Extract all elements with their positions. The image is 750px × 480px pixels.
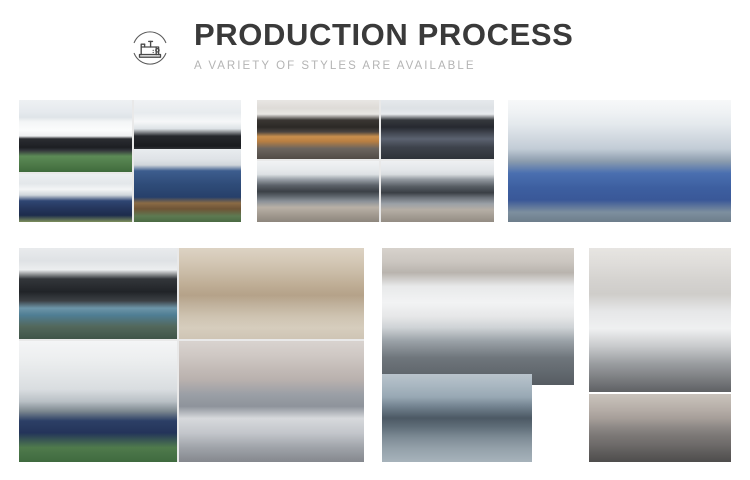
- finishing-collage: [589, 248, 731, 462]
- photo-sewing-line-navy-bundles[interactable]: [19, 174, 132, 222]
- title-block: PRODUCTION PROCESS A VARIETY OF STYLES A…: [194, 18, 573, 73]
- page-subtitle: A VARIETY OF STYLES ARE AVAILABLE: [194, 59, 573, 73]
- photo-hand-finishing-machine[interactable]: [589, 248, 731, 392]
- page-header: PRODUCTION PROCESS A VARIETY OF STYLES A…: [0, 0, 750, 96]
- photo-sewing-floor-red-dress[interactable]: [257, 100, 379, 159]
- packing-warehouse-collage: [19, 248, 364, 462]
- header-inner: PRODUCTION PROCESS A VARIETY OF STYLES A…: [128, 18, 573, 73]
- photo-sewing-hall-colorful-garments[interactable]: [381, 161, 494, 222]
- photo-seamstress-checked-shirt[interactable]: [382, 374, 532, 462]
- photo-ironing-station-blue-table[interactable]: [508, 100, 731, 222]
- sewing-floor-collage: [257, 100, 494, 222]
- production-process-gallery: [19, 100, 731, 462]
- ironing-room-photo: [508, 100, 731, 222]
- photo-sewing-hall-overhead[interactable]: [257, 161, 379, 222]
- photo-inspection-room[interactable]: [19, 341, 177, 462]
- sewing-machine-icon: [128, 26, 172, 70]
- photo-stacked-cut-parts[interactable]: [589, 394, 731, 462]
- photo-cutting-table-worker-yellow[interactable]: [19, 100, 132, 172]
- cutting-and-seamstress-collage: [382, 248, 574, 462]
- photo-folding-station-red-tee[interactable]: [179, 341, 364, 462]
- photo-carton-packing-warehouse[interactable]: [179, 248, 364, 339]
- photo-band-knife-cutting[interactable]: [382, 248, 574, 385]
- page-title: PRODUCTION PROCESS: [194, 18, 573, 52]
- photo-sewing-floor-rows[interactable]: [381, 100, 494, 159]
- cutting-room-collage: [19, 100, 241, 222]
- photo-garment-stacks-workbench[interactable]: [19, 248, 177, 339]
- photo-denim-spreading-machine[interactable]: [134, 149, 241, 222]
